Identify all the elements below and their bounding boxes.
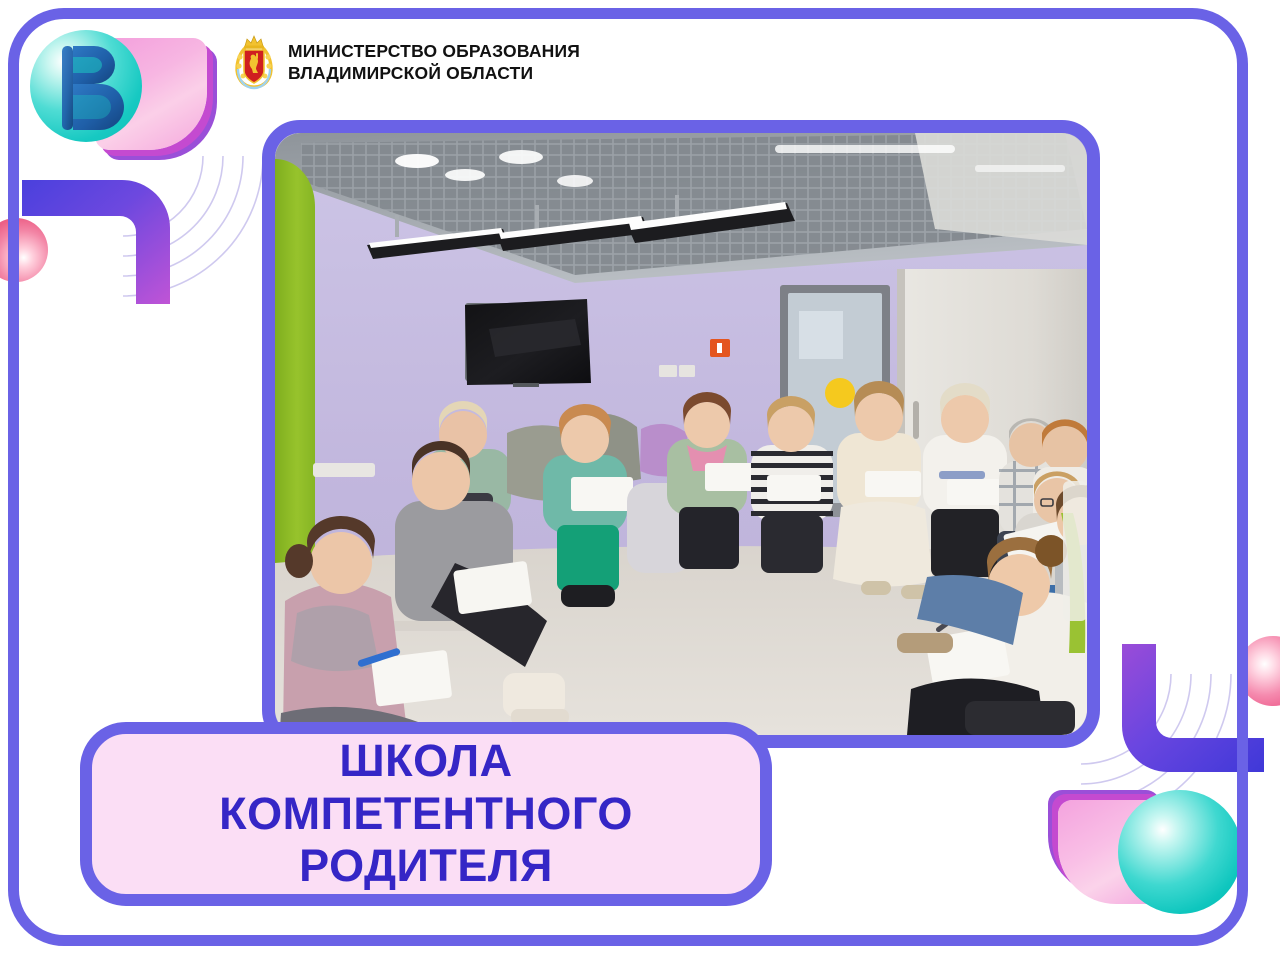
- sphere-teal: [1118, 790, 1242, 914]
- event-photo: [262, 120, 1100, 748]
- ministry-title-text: МИНИСТЕРСТВО ОБРАЗОВАНИЯ ВЛАДИМИРСКОЙ ОБ…: [288, 40, 580, 85]
- poster-title: ШКОЛА КОМПЕТЕНТНОГО РОДИТЕЛЯ: [219, 735, 633, 893]
- coat-of-arms-icon: [232, 33, 276, 91]
- ministry-header: МИНИСТЕРСТВО ОБРАЗОВАНИЯ ВЛАДИМИРСКОЙ ОБ…: [232, 33, 580, 91]
- poster-canvas: МИНИСТЕРСТВО ОБРАЗОВАНИЯ ВЛАДИМИРСКОЙ ОБ…: [0, 0, 1280, 960]
- title-banner: ШКОЛА КОМПЕТЕНТНОГО РОДИТЕЛЯ: [80, 722, 772, 906]
- logo-letter-v-icon: [30, 30, 142, 142]
- event-photo-image: [275, 133, 1087, 735]
